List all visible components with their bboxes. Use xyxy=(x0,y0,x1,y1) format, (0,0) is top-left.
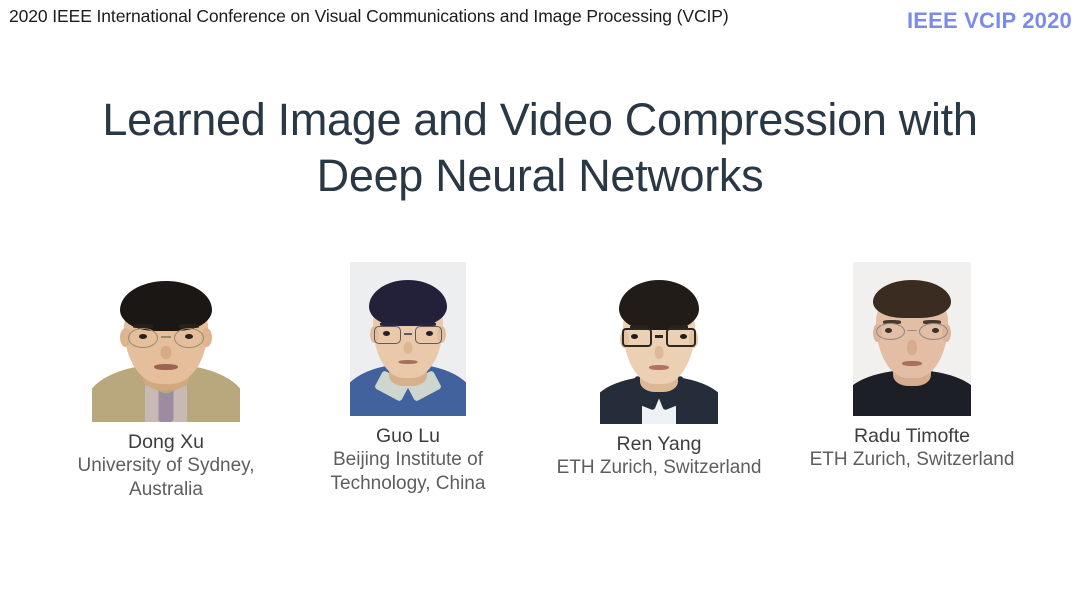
author-name: Guo Lu xyxy=(296,424,520,448)
conference-title: 2020 IEEE International Conference on Vi… xyxy=(9,5,729,27)
author-name: Ren Yang xyxy=(540,432,778,456)
author-affiliation-line-2: Technology, China xyxy=(296,472,520,496)
page-title: Learned Image and Video Compression with… xyxy=(0,92,1080,204)
author-affiliation-line-1: ETH Zurich, Switzerland xyxy=(540,456,778,480)
headshot-dong-xu xyxy=(92,262,240,422)
author-affiliation-line-2: Australia xyxy=(46,478,286,502)
author-affiliation-line-1: University of Sydney, xyxy=(46,454,286,478)
avatar xyxy=(350,262,466,416)
page-title-line-2: Deep Neural Networks xyxy=(0,148,1080,204)
avatar xyxy=(600,262,718,424)
author-affiliation-line-1: Beijing Institute of xyxy=(296,448,520,472)
ieee-vcip-logo: IEEE VCIP 2020 xyxy=(907,8,1072,34)
avatar xyxy=(853,262,971,416)
avatar xyxy=(92,262,240,422)
author-card-dong-xu: Dong Xu University of Sydney, Australia xyxy=(46,262,286,502)
author-affiliation-line-1: ETH Zurich, Switzerland xyxy=(790,448,1034,472)
author-card-guo-lu: Guo Lu Beijing Institute of Technology, … xyxy=(296,262,520,496)
page-title-line-1: Learned Image and Video Compression with xyxy=(0,92,1080,148)
headshot-guo-lu xyxy=(350,262,466,416)
author-list: Dong Xu University of Sydney, Australia xyxy=(0,262,1080,532)
author-card-ren-yang: Ren Yang ETH Zurich, Switzerland xyxy=(540,262,778,480)
author-name: Radu Timofte xyxy=(790,424,1034,448)
author-name: Dong Xu xyxy=(46,430,286,454)
headshot-radu-timofte xyxy=(853,262,971,416)
author-card-radu-timofte: Radu Timofte ETH Zurich, Switzerland xyxy=(790,262,1034,472)
slide-header: 2020 IEEE International Conference on Vi… xyxy=(0,0,1080,36)
headshot-ren-yang xyxy=(600,262,718,424)
